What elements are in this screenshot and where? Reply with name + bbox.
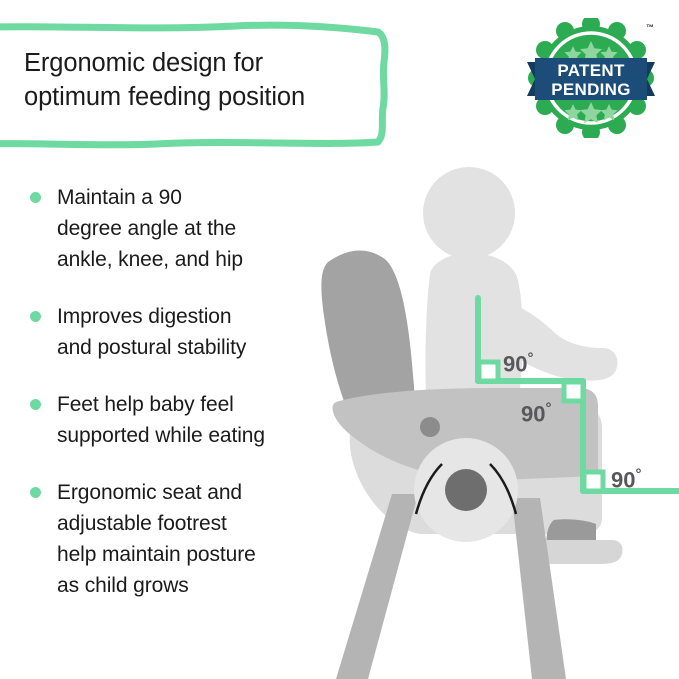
bullet-line: supported while eating (57, 420, 265, 451)
page-title: Ergonomic design for optimum feeding pos… (24, 46, 364, 114)
degree-symbol-icon: ° (527, 350, 533, 367)
heading-line-2: optimum feeding position (24, 80, 364, 114)
badge-line-1: PATENT (557, 61, 625, 80)
bullet-line: help maintain posture (57, 539, 256, 570)
bullet-line: Feet help baby feel (57, 389, 265, 420)
angle-label-ankle: 90° (611, 466, 641, 493)
right-angle-marker-knee (564, 382, 583, 401)
bullet-line: adjustable footrest (57, 508, 256, 539)
infographic-canvas: Ergonomic design for optimum feeding pos… (0, 0, 679, 679)
bullet-line: Maintain a 90 (57, 182, 243, 213)
bullet-line: and postural stability (57, 332, 246, 363)
angle-value: 90 (503, 351, 527, 376)
angle-value: 90 (611, 467, 635, 492)
baby-high-chair-illustration (300, 120, 679, 679)
angle-value: 90 (521, 401, 545, 426)
degree-symbol-icon: ° (545, 400, 551, 417)
angle-label-knee: 90° (521, 400, 551, 427)
bullet-line: Ergonomic seat and (57, 477, 256, 508)
bullet-line: as child grows (57, 570, 256, 601)
bullet-line: degree angle at the (57, 213, 243, 244)
high-chair-diagram (300, 120, 679, 679)
badge-seal-icon: PATENT PENDING (527, 18, 655, 138)
cushion-dot (420, 417, 440, 437)
trademark-symbol: ™ (646, 23, 654, 32)
right-angle-marker-ankle (584, 472, 603, 491)
degree-symbol-icon: ° (635, 466, 641, 483)
bullet-line: Improves digestion (57, 301, 246, 332)
bullet-text: Ergonomic seat and adjustable footrest h… (57, 477, 256, 601)
chair-leg-rear (336, 494, 418, 679)
bullet-text: Feet help baby feel supported while eati… (57, 389, 265, 451)
patent-pending-badge: PATENT PENDING ™ (527, 18, 655, 138)
badge-line-2: PENDING (551, 80, 631, 99)
heading-line-1: Ergonomic design for (24, 46, 364, 80)
hub-inner (445, 469, 487, 511)
bullet-dot-icon (30, 399, 41, 410)
bullet-text: Maintain a 90 degree angle at the ankle,… (57, 182, 243, 275)
angle-label-hip: 90° (503, 350, 533, 377)
baby-head (423, 167, 515, 259)
right-angle-marker-hip (479, 362, 498, 381)
bullet-dot-icon (30, 192, 41, 203)
bullet-line: ankle, knee, and hip (57, 244, 243, 275)
bullet-dot-icon (30, 487, 41, 498)
bullet-dot-icon (30, 311, 41, 322)
bullet-text: Improves digestion and postural stabilit… (57, 301, 246, 363)
